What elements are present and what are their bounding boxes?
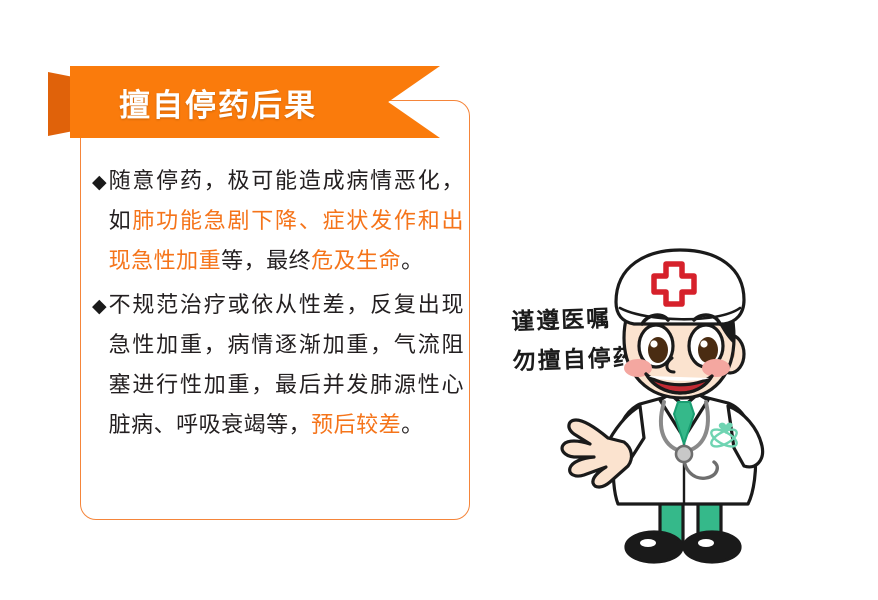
bullet-1-text: 随意停药，极可能造成病情恶化，如肺功能急剧下降、症状发作和出现急性加重等，最终危… (109, 162, 464, 282)
diamond-bullet-icon: ◆ (92, 162, 107, 202)
title-banner: 擅自停药后果 (48, 66, 440, 142)
cartoon-doctor-illustration (548, 242, 818, 582)
bullet-1-seg-2: 等，最终 (221, 249, 311, 274)
stethoscope-chestpiece (676, 446, 692, 462)
bullet-1-seg-3: 危及生命 (311, 249, 401, 274)
bullet-2-seg-2: 。 (401, 413, 424, 438)
diamond-bullet-icon: ◆ (92, 286, 107, 326)
bullet-2-text: 不规范治疗或依从性差，反复出现急性加重，病情逐渐加重，气流阻塞进行性加重，最后并… (109, 286, 464, 446)
poster-canvas: 擅自停药后果 ◆ 随意停药，极可能造成病情恶化，如肺功能急剧下降、症状发作和出现… (0, 0, 878, 600)
bullet-1-seg-4: 。 (401, 249, 424, 274)
right-blush (702, 359, 730, 377)
list-item: ◆ 随意停药，极可能造成病情恶化，如肺功能急剧下降、症状发作和出现急性加重等，最… (92, 162, 464, 282)
bullet-2-seg-1: 预后较差 (311, 413, 401, 438)
bullet-list: ◆ 随意停药，极可能造成病情恶化，如肺功能急剧下降、症状发作和出现急性加重等，最… (92, 162, 464, 450)
page-title: 擅自停药后果 (48, 66, 388, 138)
right-shoe (684, 532, 740, 562)
list-item: ◆ 不规范治疗或依从性差，反复出现急性加重，病情逐渐加重，气流阻塞进行性加重，最… (92, 286, 464, 446)
left-shoe (626, 532, 682, 562)
